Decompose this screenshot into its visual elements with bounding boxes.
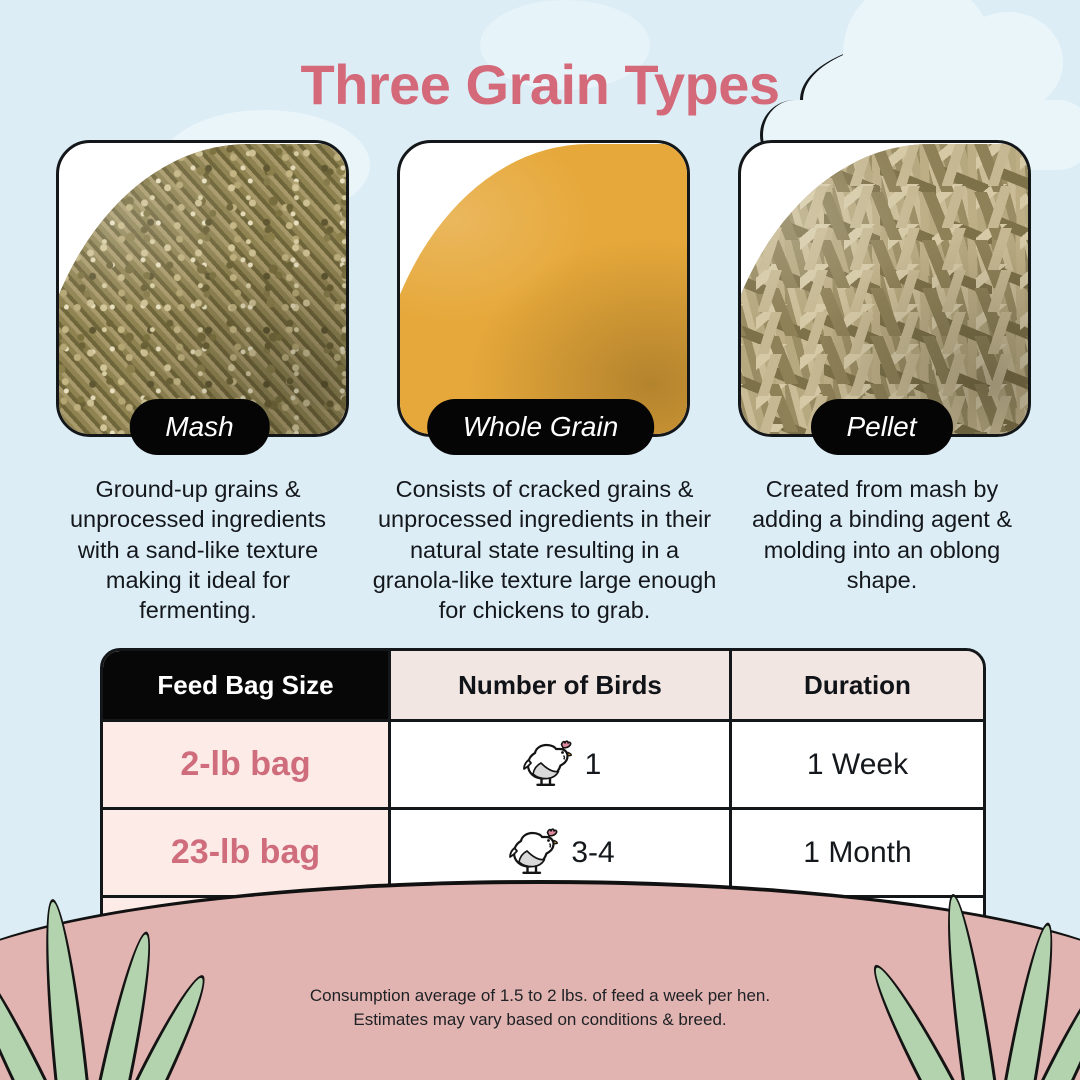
cell-duration: 1 Month bbox=[729, 810, 983, 895]
whole-grain-photo bbox=[397, 144, 690, 437]
column-header-duration: Duration bbox=[729, 651, 983, 719]
table-header-row: Feed Bag Size Number of Birds Duration bbox=[103, 651, 983, 719]
bird-count: 3-4 bbox=[571, 836, 614, 870]
cell-duration: 1 Week bbox=[729, 722, 983, 807]
cell-number-of-birds: 1 bbox=[388, 722, 729, 807]
column-header-feed-bag-size: Feed Bag Size bbox=[103, 651, 388, 719]
grain-card-whole-grain bbox=[397, 140, 690, 437]
card-description-mash: Ground-up grains & unprocessed ingredien… bbox=[48, 474, 348, 626]
grain-card-pellet bbox=[738, 140, 1031, 437]
column-header-number-of-birds: Number of Birds bbox=[388, 651, 729, 719]
bird-count: 1 bbox=[585, 748, 602, 782]
footnote: Consumption average of 1.5 to 2 lbs. of … bbox=[0, 984, 1080, 1032]
table-row: 2-lb bag 1 1 We bbox=[103, 719, 983, 807]
page-title: Three Grain Types bbox=[0, 52, 1080, 117]
grain-card-mash bbox=[56, 140, 349, 437]
infographic-canvas: Three Grain Types Mash Whole Grain Pelle… bbox=[0, 0, 1080, 1080]
mash-grain-photo bbox=[56, 144, 349, 437]
card-description-pellet: Created from mash by adding a binding ag… bbox=[742, 474, 1022, 595]
pellet-feed-photo bbox=[738, 144, 1031, 437]
footnote-line-1: Consumption average of 1.5 to 2 lbs. of … bbox=[0, 984, 1080, 1008]
footnote-line-2: Estimates may vary based on conditions &… bbox=[0, 1008, 1080, 1032]
cell-bag-size: 23-lb bag bbox=[103, 810, 388, 895]
card-description-whole-grain: Consists of cracked grains & unprocessed… bbox=[372, 474, 717, 626]
chicken-icon bbox=[519, 735, 575, 795]
cell-bag-size: 2-lb bag bbox=[103, 722, 388, 807]
chicken-icon bbox=[505, 823, 561, 883]
